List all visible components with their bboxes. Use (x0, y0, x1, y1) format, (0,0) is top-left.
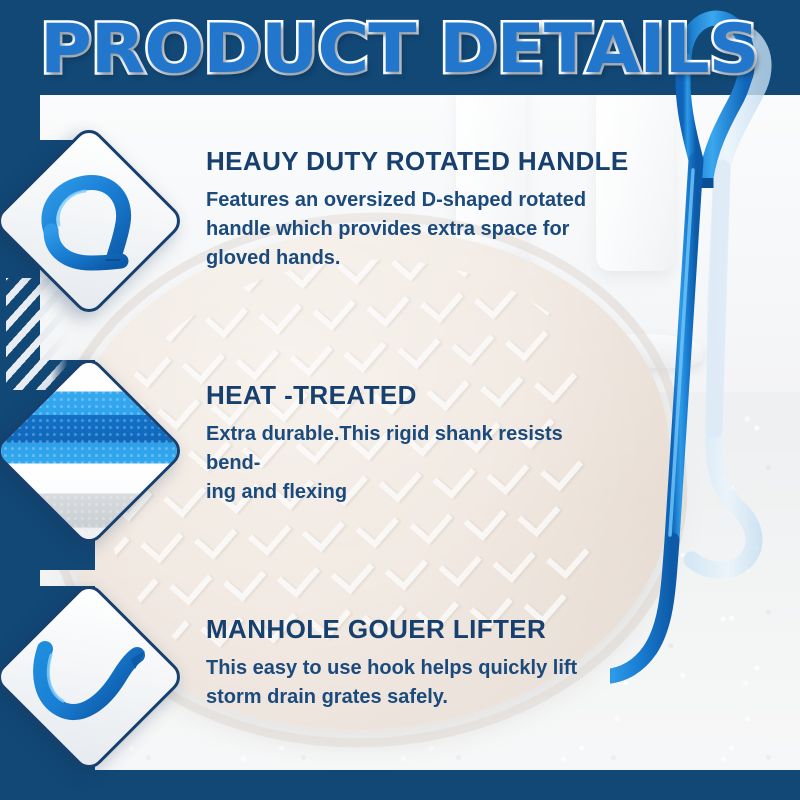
chevron-mark (438, 543, 481, 587)
chevron-mark (343, 329, 386, 373)
feature-body-1-line-3: gloved hands. (206, 244, 610, 273)
chevron-mark (181, 340, 224, 384)
chevron-mark (289, 332, 332, 376)
feature-block-2: HEAT -TREATED Extra durable.This rigid s… (206, 380, 698, 507)
chevron-mark (247, 512, 290, 556)
feature-body-1: Features an oversized D-shaped rotated h… (206, 186, 610, 273)
chevron-mark (162, 474, 205, 518)
chevron-mark (222, 558, 265, 602)
chevron-mark (409, 501, 452, 545)
chevron-mark (492, 539, 535, 583)
chevron-mark (276, 554, 319, 598)
feature-body-1-line-2: handle which provides extra space for (206, 215, 610, 244)
feature-body-1-line-1: Features an oversized D-shaped rotated (206, 186, 610, 215)
feature-body-3-line-2: storm drain grates safely. (206, 683, 606, 712)
feature-heading-1: HEAUY DUTY ROTATED HANDLE (206, 146, 698, 176)
chevron-mark (301, 508, 344, 552)
chevron-mark (312, 287, 355, 331)
chevron-mark (366, 283, 409, 327)
chevron-mark (193, 516, 236, 560)
feature-heading-3: MANHOLE GOUER LIFTER (206, 614, 698, 644)
feature-body-2: Extra durable.This rigid shank resists b… (206, 420, 610, 507)
chevron-mark (397, 325, 440, 369)
feature-body-2-line-2: ing and flexing (206, 478, 610, 507)
chevron-mark (450, 321, 493, 365)
j-hook-tip-icon (27, 625, 151, 729)
diagonal-stripe-accent (6, 278, 68, 390)
chevron-mark (140, 519, 183, 563)
product-details-infographic: PRODUCT DETAILS (0, 0, 800, 800)
chevron-mark (258, 291, 301, 335)
chevron-mark (355, 504, 398, 548)
frame-bottom-band (0, 770, 800, 800)
chevron-mark (235, 336, 278, 380)
chevron-mark (546, 535, 589, 579)
feature-block-3: MANHOLE GOUER LIFTER This easy to use ho… (206, 614, 698, 712)
feature-body-3-line-1: This easy to use hook helps quickly lift (206, 654, 606, 683)
chevron-mark (419, 279, 462, 323)
chevron-mark (169, 561, 212, 605)
chevron-mark (330, 550, 373, 594)
feature-body-2-line-1: Extra durable.This rigid shank resists b… (206, 420, 610, 478)
feature-heading-2: HEAT -TREATED (206, 380, 698, 410)
chevron-mark (504, 317, 547, 361)
feature-body-3: This easy to use hook helps quickly lift… (206, 654, 606, 712)
d-shaped-handle-icon (29, 169, 149, 273)
feature-block-1: HEAUY DUTY ROTATED HANDLE Features an ov… (206, 146, 698, 273)
page-title: PRODUCT DETAILS (40, 16, 759, 84)
chevron-mark (156, 386, 199, 430)
chevron-mark (384, 546, 427, 590)
